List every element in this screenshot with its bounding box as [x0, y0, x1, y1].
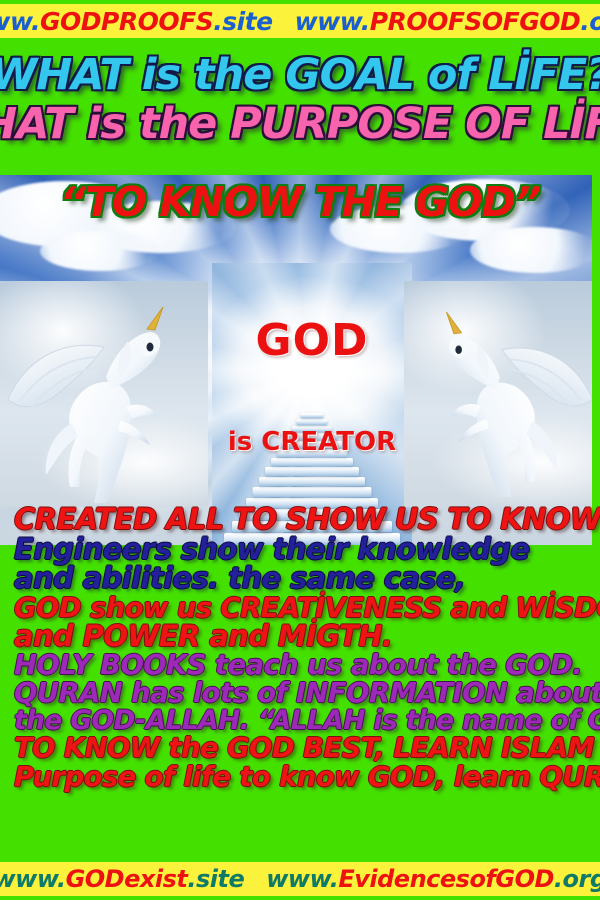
unicorn-image-left [0, 281, 208, 507]
link-tld: .org [580, 7, 600, 36]
link-tld: .site [187, 865, 244, 893]
link-domain: PROOFSOFGOD [370, 7, 581, 36]
winged-unicorn-icon [0, 281, 208, 507]
link-godexist[interactable]: www.GODexist.site [0, 865, 244, 893]
body-line: and POWER and MİGTH. [0, 622, 600, 652]
link-prefix: www. [295, 7, 370, 36]
cloud-shape [40, 231, 160, 271]
link-proofsofgod[interactable]: www.PROOFSOFGOD.org [295, 7, 600, 36]
bottom-url-banner: www.GODexist.site www.EvidencesofGOD.org [0, 862, 600, 896]
link-domain: GODPROOFS [40, 7, 213, 36]
is-creator-label: is CREATOR [212, 427, 412, 457]
link-tld: .site [213, 7, 272, 36]
body-line: Engineers show their knowledge [0, 535, 600, 565]
headline-block: WHAT is the GOAL of LİFE? WHAT is the PU… [0, 40, 600, 180]
body-line: HOLY BOOKS teach us about the GOD. [0, 651, 600, 679]
headline-purpose-of-life: WHAT is the PURPOSE OF LİFE? [0, 103, 600, 146]
winged-unicorn-icon [404, 281, 600, 507]
unicorn-image-right [404, 281, 600, 507]
top-url-banner: www.GODPROOFS.site www.PROOFSOFGOD.org [0, 4, 600, 38]
body-line: QURAN has lots of INFORMATION about [0, 679, 600, 707]
right-green-edge [592, 175, 600, 545]
link-tld: .org [554, 865, 600, 893]
headline-goal-of-life: WHAT is the GOAL of LİFE? [0, 54, 600, 97]
sky-background-image: GOD is CREATOR [0, 175, 600, 545]
headline-to-know-the-god: “TO KNOW THE GOD” [0, 178, 600, 226]
god-label: GOD [212, 315, 412, 366]
link-prefix: www. [0, 865, 66, 893]
poster-root: www.GODPROOFS.site www.PROOFSOFGOD.org W… [0, 0, 600, 900]
link-domain: GODexist [66, 865, 188, 893]
body-line: Purpose of life to know GOD, learn QURAN… [0, 763, 600, 791]
body-line: TO KNOW the GOD BEST, LEARN ISLAM [0, 734, 600, 762]
link-prefix: www. [0, 7, 40, 36]
cloud-shape [470, 227, 600, 273]
body-line: the GOD-ALLAH. “ALLAH is the name of GOD… [0, 707, 600, 734]
body-line: GOD show us CREATİVENESS and WİSDOM [0, 594, 600, 622]
body-copy-block: CREATED ALL TO SHOW US TO KNOW HİM Engin… [0, 505, 600, 791]
body-line: and abilities. the same case, [0, 564, 600, 594]
link-godproofs[interactable]: www.GODPROOFS.site [0, 7, 273, 36]
link-prefix: www. [266, 865, 338, 893]
body-line: CREATED ALL TO SHOW US TO KNOW HİM [0, 505, 600, 535]
link-evidencesofgod[interactable]: www.EvidencesofGOD.org [266, 865, 600, 893]
link-domain: EvidencesofGOD [338, 865, 554, 893]
